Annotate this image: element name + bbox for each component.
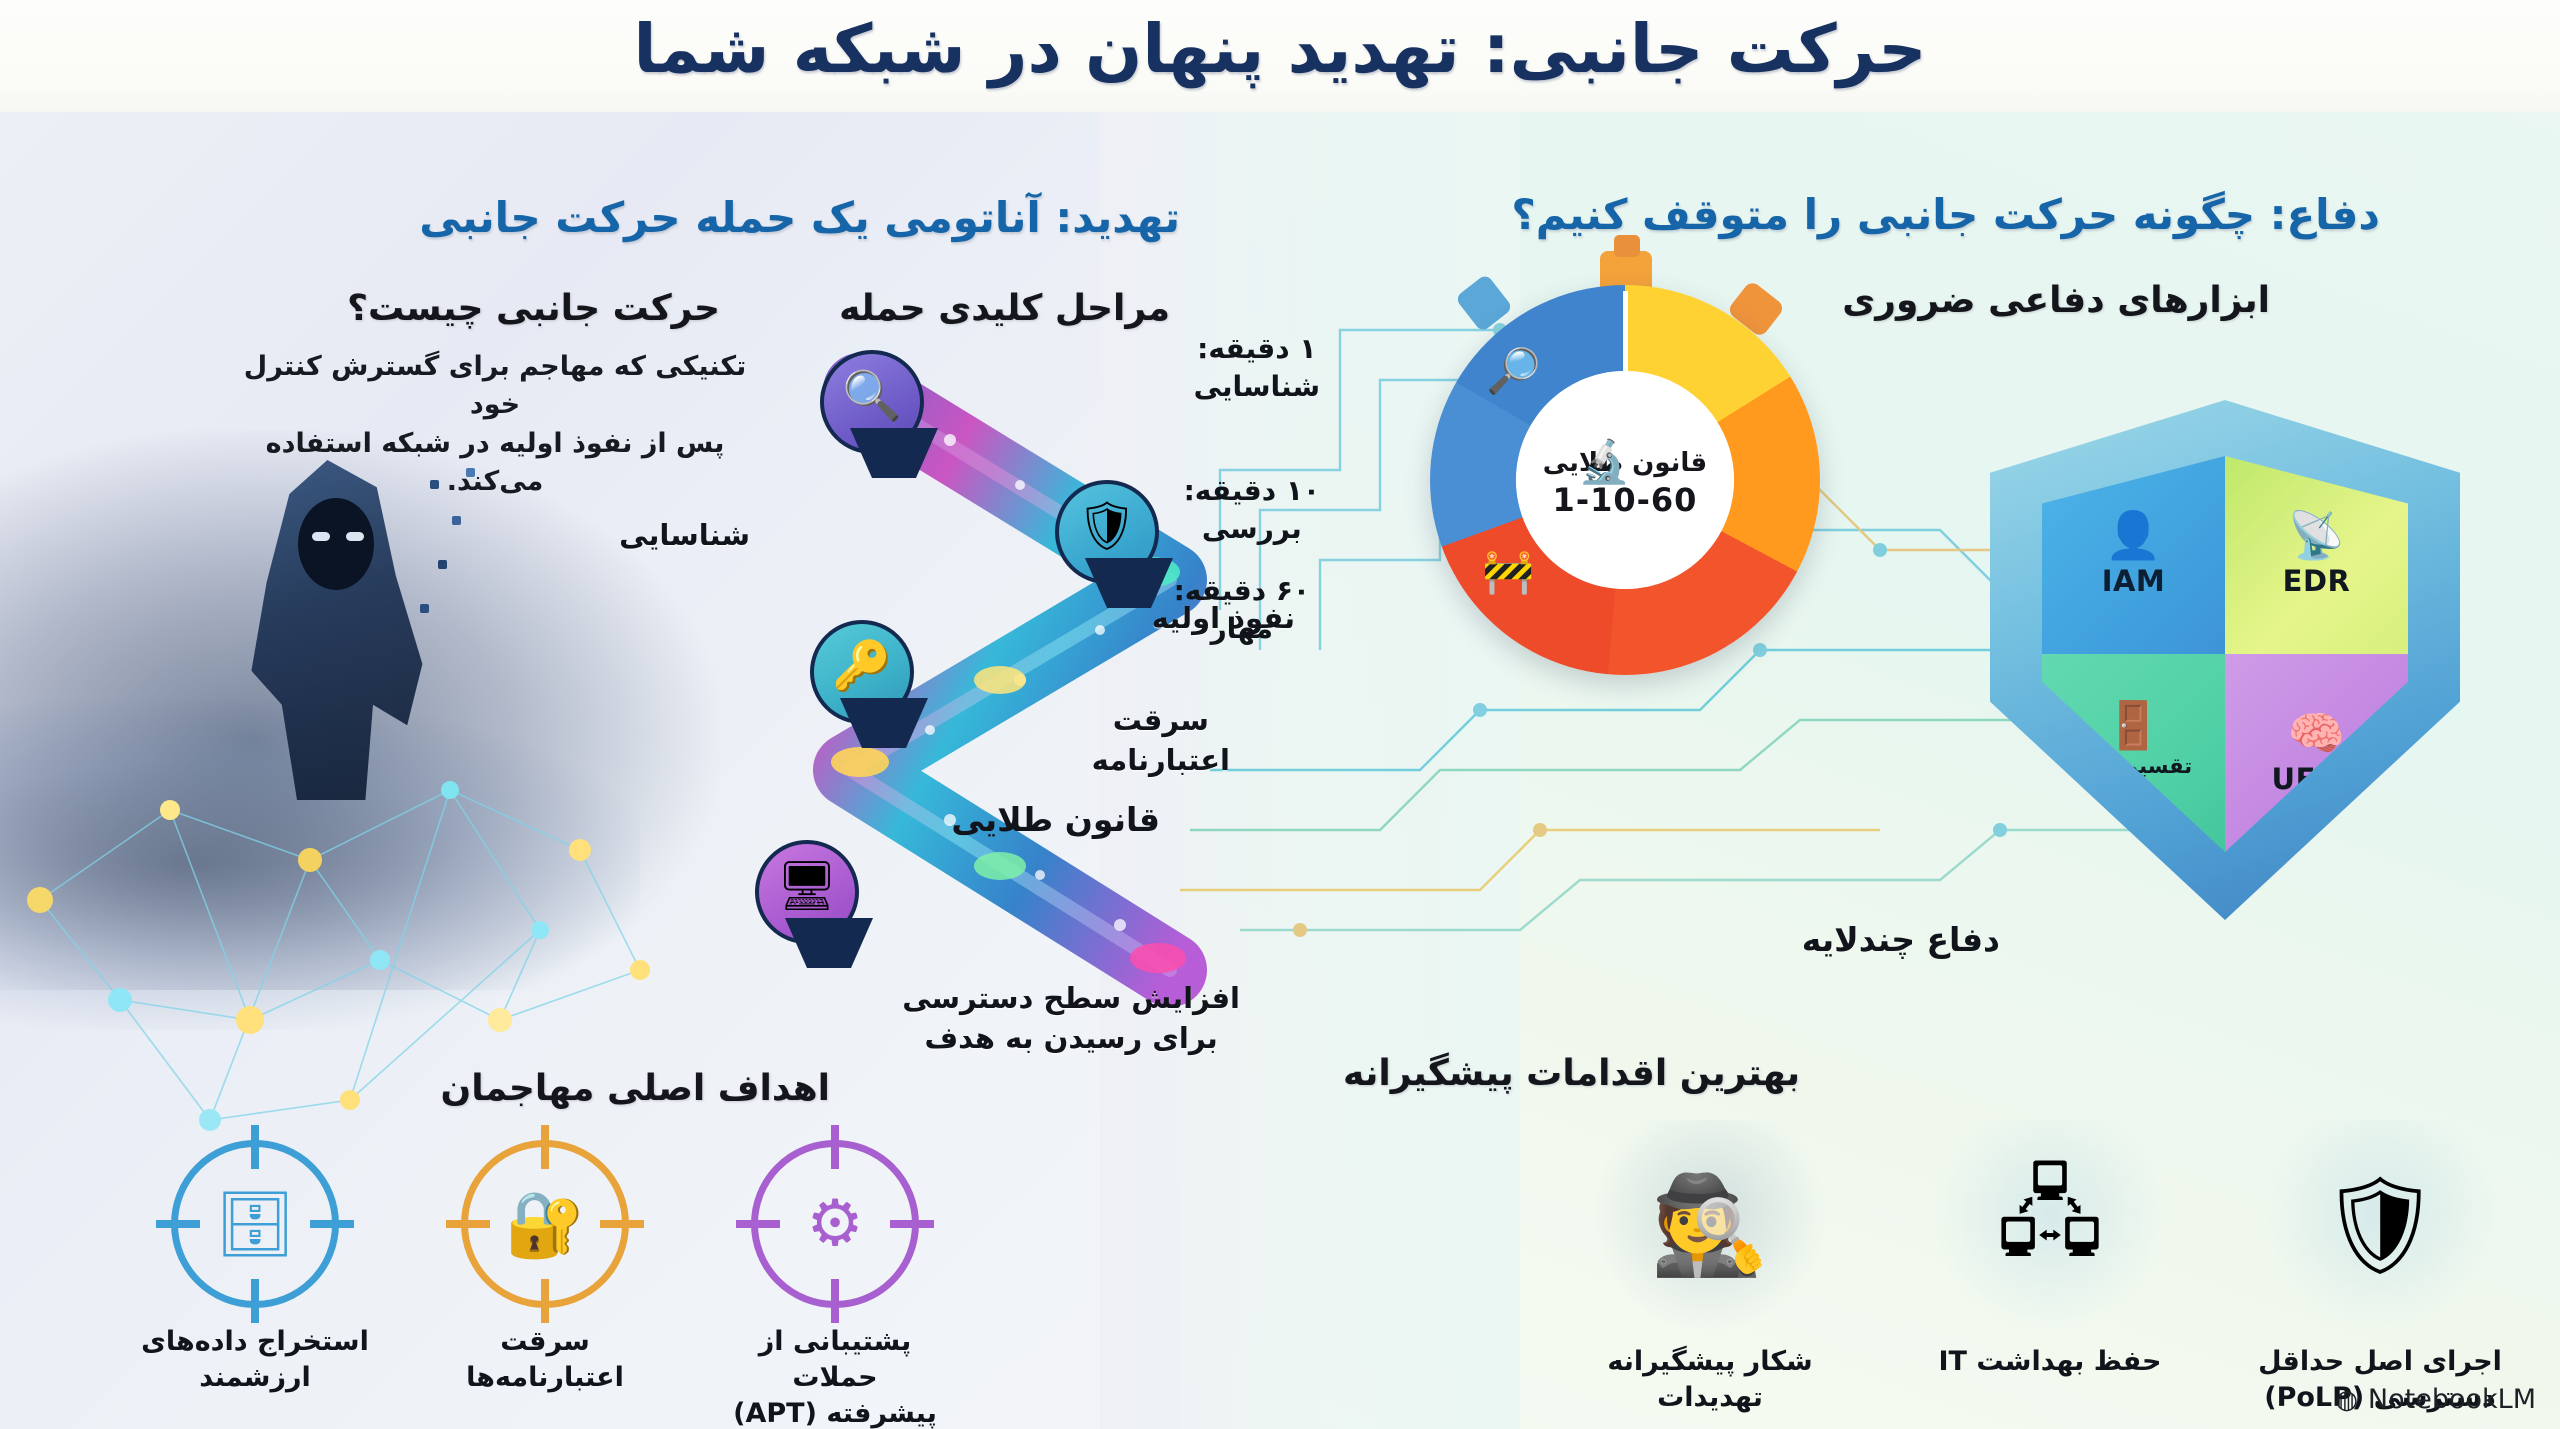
layered-defense-caption: دفاع چندلایه bbox=[1802, 920, 2000, 959]
defense-shield: 📡 EDR 👤 IAM 🧠 UEBA 🚪 تقسیم‌بندی شبکه bbox=[1990, 400, 2460, 920]
magnifier-icon: 🔍 bbox=[842, 372, 902, 420]
golden-step-label-10: ۱۰ دقیقه: بررسی bbox=[1184, 472, 1320, 548]
what-is-heading: حرکت جانبی چیست؟ bbox=[347, 288, 720, 329]
golden-step-label-60: ۶۰ دقیقه: مهار bbox=[1174, 572, 1310, 648]
golden-rule-stopwatch: قانون طلایی 1-10-60 🔎 🔬 🚧 bbox=[1430, 285, 1820, 675]
watermark: ◍ NotebookLM bbox=[2335, 1384, 2536, 1415]
target-item-data[interactable]: 🗄 استخراج داده‌های ارزشمند bbox=[140, 1140, 370, 1396]
watermark-label: NotebookLM bbox=[2368, 1384, 2536, 1415]
stage-label-credential: سرقت اعتبارنامه bbox=[1092, 700, 1230, 780]
defense-section-heading: دفاع: چگونه حرکت جانبی را متوقف کنیم؟ bbox=[1511, 190, 2380, 239]
least-privilege-icon: 🛡 bbox=[2265, 1120, 2495, 1330]
threat-hunting-icon: 🕵 bbox=[1595, 1120, 1825, 1330]
shield-label-edr: EDR bbox=[2283, 564, 2351, 598]
infographic-canvas: حرکت جانبی: تهدید پنهان در شبکه شما تهدی… bbox=[0, 0, 2560, 1429]
server-cleanup-icon: 🖧 bbox=[1935, 1120, 2165, 1330]
targets-heading: اهداف اصلی مهاجمان bbox=[441, 1068, 830, 1109]
network-target-icon: ⚙ bbox=[751, 1140, 919, 1308]
stopwatch-crown-top bbox=[1614, 235, 1640, 257]
tools-heading: ابزارهای دفاعی ضروری bbox=[1842, 280, 2270, 321]
keys-lock-icon: 🔐 bbox=[461, 1140, 629, 1308]
stage-label-recon: شناسایی bbox=[619, 515, 750, 555]
radar-shield-icon: 📡 bbox=[2288, 512, 2345, 558]
stage-pin-privilege-escalation[interactable]: 🖥 bbox=[755, 840, 859, 972]
golden-rule-caption: قانون طلایی bbox=[951, 800, 1160, 839]
target-label-data: استخراج داده‌های ارزشمند bbox=[140, 1324, 370, 1396]
best-practice-threat-hunting[interactable]: 🕵 شکار پیشگیرانه تهدیدات bbox=[1560, 1120, 1860, 1416]
best-practices-heading: بهترین اقدامات پیشگیرانه bbox=[1343, 1053, 1800, 1094]
barrier-icon: 🚧 bbox=[1482, 547, 1534, 597]
server-upload-icon: 🖥 bbox=[777, 862, 838, 910]
shield-label-iam: IAM bbox=[2102, 564, 2166, 598]
bug-magnifier-icon: 🔬 bbox=[1578, 437, 1630, 487]
target-label-credentials: سرقت اعتبارنامه‌ها bbox=[430, 1324, 660, 1396]
threat-section-heading: تهدید: آناتومی یک حمله حرکت جانبی bbox=[419, 193, 1180, 242]
what-is-body: تکنیکی که مهاجم برای گسترش کنترل خود پس … bbox=[215, 348, 775, 501]
clock-magnifier-icon: 🔎 bbox=[1486, 345, 1541, 397]
best-practice-polp[interactable]: 🛡 اجرای اصل حداقل دسترسی (PoLP) bbox=[2230, 1120, 2530, 1416]
notebooklm-icon: ◍ bbox=[2335, 1385, 2358, 1415]
target-label-apt: پشتیبانی از حملات پیشرفته (APT) bbox=[720, 1324, 950, 1429]
broken-shield-icon: 🛡 bbox=[1077, 502, 1138, 550]
best-practice-label-hunting: شکار پیشگیرانه تهدیدات bbox=[1560, 1344, 1860, 1416]
stage-label-privilege: افزایش سطح دسترسی برای رسیدن به هدف bbox=[902, 978, 1240, 1058]
attack-stages-heading: مراحل کلیدی حمله bbox=[839, 288, 1170, 329]
best-practice-label-hygiene: حفظ بهداشت IT bbox=[1900, 1344, 2200, 1380]
network-segment-icon: 🚪 bbox=[2105, 702, 2162, 748]
best-practice-it-hygiene[interactable]: 🖧 حفظ بهداشت IT bbox=[1900, 1120, 2200, 1380]
target-item-apt[interactable]: ⚙ پشتیبانی از حملات پیشرفته (APT) bbox=[720, 1140, 950, 1429]
stage-pin-recon[interactable]: 🔍 bbox=[820, 350, 924, 482]
key-icon: 🔑 bbox=[832, 642, 892, 690]
target-item-credentials[interactable]: 🔐 سرقت اعتبارنامه‌ها bbox=[430, 1140, 660, 1396]
page-title: حرکت جانبی: تهدید پنهان در شبکه شما bbox=[0, 14, 2560, 84]
golden-step-label-1: ۱ دقیقه: شناسایی bbox=[1194, 330, 1320, 406]
stage-pin-credential-theft[interactable]: 🔑 bbox=[810, 620, 914, 752]
stage-pin-initial-breach[interactable]: 🛡 bbox=[1055, 480, 1159, 612]
user-lock-icon: 👤 bbox=[2105, 512, 2162, 558]
safe-box-icon: 🗄 bbox=[171, 1140, 339, 1308]
